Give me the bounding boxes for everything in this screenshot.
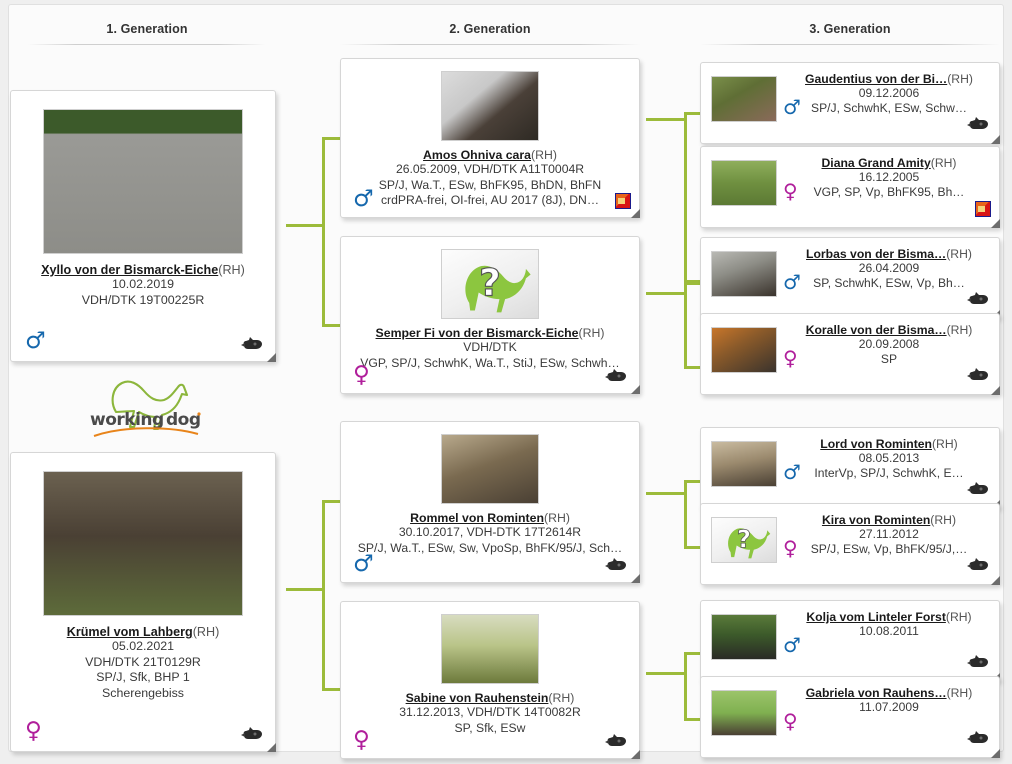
pedigree-page: 1. Generation 2. Generation 3. Generatio…: [0, 0, 1012, 764]
gender-icon-female: ♀: [783, 348, 798, 368]
dog-name-suffix: (RH): [932, 437, 958, 451]
card-corner-marker: [991, 749, 1000, 758]
pedigree-card-gen3[interactable]: Gabriela von Rauhens…(RH) 11.07.2009 ♀: [700, 676, 1000, 758]
dog-name: Xyllo von der Bismarck-Eiche(RH): [11, 263, 275, 277]
pedigree-document-icon[interactable]: [615, 193, 631, 209]
dog-meta-line: VDH/DTK: [347, 340, 633, 356]
dog-name: Lorbas von der Bisma…(RH): [785, 247, 993, 261]
dog-name: Sabine von Rauhenstein(RH): [341, 691, 639, 705]
generation-header-3: 3. Generation: [700, 22, 1000, 45]
dog-name-link[interactable]: Semper Fi von der Bismarck-Eiche: [376, 326, 579, 340]
connector-line: [286, 224, 324, 227]
dog-meta-line: VDH/DTK 21T0129R: [11, 655, 275, 671]
dog-name: Diana Grand Amity(RH): [785, 156, 993, 170]
dog-meta-line: 10.08.2011: [785, 624, 993, 639]
dog-name-link[interactable]: Rommel von Rominten: [410, 511, 544, 525]
gender-icon-female: ♀: [783, 538, 798, 558]
gender-icon-male: ♂: [25, 330, 46, 353]
dog-head-icon: [967, 730, 989, 745]
gender-icon-female: ♀: [25, 720, 42, 743]
gender-icon-male: ♂: [353, 553, 374, 576]
connector-line: [322, 500, 342, 503]
dog-name-link[interactable]: Lorbas von der Bisma…: [806, 247, 946, 261]
dog-name: Gabriela von Rauhens…(RH): [785, 686, 993, 700]
generation-header-1-rule: [28, 44, 266, 45]
connector-line: [684, 480, 687, 548]
dog-meta: 30.10.2017, VDH-DTK 17T2614RSP/J, Wa.T.,…: [341, 525, 639, 556]
dog-photo[interactable]: [711, 251, 777, 297]
dog-head-icon: [605, 368, 627, 383]
dog-name: Koralle von der Bisma…(RH): [785, 323, 993, 337]
dog-name: Krümel vom Lahberg(RH): [11, 625, 275, 639]
dog-photo[interactable]: [711, 614, 777, 660]
gender-icon-female: ♀: [353, 729, 370, 752]
card-corner-marker: [991, 135, 1000, 144]
pedigree-card-gen2[interactable]: Sabine von Rauhenstein(RH) 31.12.2013, V…: [340, 601, 640, 759]
connector-line: [684, 112, 687, 282]
dog-name-suffix: (RH): [947, 72, 973, 86]
dog-info: Lord von Rominten(RH) 08.05.2013InterVp,…: [785, 437, 993, 481]
dog-meta: 16.12.2005VGP, SP, Vp, BhFK95, Bh…: [785, 170, 993, 200]
dog-meta-line: VGP, SP, Vp, BhFK95, Bh…: [785, 185, 993, 200]
dog-head-icon: [967, 654, 989, 669]
dog-name: Kolja vom Linteler Forst(RH): [785, 610, 993, 624]
dog-name-link[interactable]: Krümel vom Lahberg: [67, 625, 193, 639]
pedigree-card-gen3[interactable]: Koralle von der Bisma…(RH) 20.09.2008SP …: [700, 313, 1000, 395]
gender-icon-male: ♂: [783, 635, 801, 655]
card-corner-marker: [991, 576, 1000, 585]
pedigree-card-gen1[interactable]: Xyllo von der Bismarck-Eiche(RH) 10.02.2…: [10, 90, 276, 362]
card-corner-marker: [631, 574, 640, 583]
dog-meta-line: 31.12.2013, VDH/DTK 14T0082R: [347, 705, 633, 721]
dog-name-link[interactable]: Lord von Rominten: [820, 437, 932, 451]
dog-photo[interactable]: [711, 690, 777, 736]
dog-photo[interactable]: [43, 109, 243, 254]
dog-meta-line: 26.04.2009: [785, 261, 993, 276]
dog-name-link[interactable]: Gabriela von Rauhens…: [806, 686, 947, 700]
dog-name-link[interactable]: Koralle von der Bisma…: [806, 323, 947, 337]
card-corner-marker: [991, 219, 1000, 228]
svg-text:working: working: [90, 410, 164, 430]
connector-line: [684, 282, 687, 368]
dog-head-icon: [967, 557, 989, 572]
dog-name-link[interactable]: Amos Ohniva cara: [423, 148, 531, 162]
dog-info: Kolja vom Linteler Forst(RH) 10.08.2011: [785, 610, 993, 639]
dog-meta: VDH/DTKVGP, SP/J, SchwhK, Wa.T., StiJ, E…: [341, 340, 639, 371]
connector-line: [646, 492, 686, 495]
dog-name-suffix: (RH): [218, 263, 245, 277]
dog-photo[interactable]: [711, 441, 777, 487]
dog-name-link[interactable]: Sabine von Rauhenstein: [406, 691, 549, 705]
dog-head-icon: [241, 726, 263, 741]
dog-name-suffix: (RH): [947, 323, 973, 337]
connector-line: [322, 137, 325, 327]
pedigree-card-gen3[interactable]: Lord von Rominten(RH) 08.05.2013InterVp,…: [700, 427, 1000, 509]
dog-meta-line: 16.12.2005: [785, 170, 993, 185]
dog-info: Lorbas von der Bisma…(RH) 26.04.2009SP, …: [785, 247, 993, 291]
connector-line: [646, 672, 686, 675]
connector-line: [322, 688, 342, 691]
dog-name-link[interactable]: Xyllo von der Bismarck-Eiche: [41, 263, 218, 277]
dog-photo[interactable]: [441, 434, 539, 504]
gender-icon-female: ♀: [783, 711, 798, 731]
dog-head-icon: [605, 733, 627, 748]
pedigree-card-gen3[interactable]: ? Kira von Rominten(RH) 27.11.2012SP/J, …: [700, 503, 1000, 585]
dog-meta: 05.02.2021VDH/DTK 21T0129RSP/J, Sfk, BHP…: [11, 639, 275, 701]
dog-name: Gaudentius von der Bi…(RH): [785, 72, 993, 86]
connector-line: [646, 118, 686, 121]
dog-meta-line: SP, SchwhK, ESw, Vp, Bh…: [785, 276, 993, 291]
dog-meta-line: VDH/DTK 19T00225R: [11, 293, 275, 309]
dog-meta: 20.09.2008SP: [785, 337, 993, 367]
dog-meta-line: 05.02.2021: [11, 639, 275, 655]
dog-meta-line: SP/J, Wa.T., ESw, BhFK95, BhDN, BhFN: [347, 178, 633, 194]
card-corner-marker: [631, 385, 640, 394]
dog-meta: 26.05.2009, VDH/DTK A11T0004RSP/J, Wa.T.…: [341, 162, 639, 209]
dog-meta-line: 10.02.2019: [11, 277, 275, 293]
dog-head-icon: [967, 367, 989, 382]
dog-meta-line: SP: [785, 352, 993, 367]
card-corner-marker: [267, 353, 276, 362]
connector-line: [322, 324, 342, 327]
dog-name-link[interactable]: Gaudentius von der Bi…: [805, 72, 947, 86]
dog-name-suffix: (RH): [531, 148, 557, 162]
dog-meta-line: VGP, SP/J, SchwhK, Wa.T., StiJ, ESw, Sch…: [347, 356, 633, 372]
connector-line: [684, 652, 687, 720]
generation-header-3-rule: [700, 44, 1000, 45]
dog-photo[interactable]: [711, 327, 777, 373]
generation-header-1: 1. Generation: [28, 22, 266, 45]
dog-photo[interactable]: [711, 160, 777, 206]
dog-head-icon: [241, 336, 263, 351]
dog-meta: 11.07.2009: [785, 700, 993, 715]
gender-icon-male: ♂: [783, 97, 801, 117]
dog-meta: 08.05.2013InterVp, SP/J, SchwhK, E…: [785, 451, 993, 481]
dog-meta-line: SP/J, ESw, Vp, BhFK/95/J,…: [785, 542, 993, 557]
pedigree-card-gen2[interactable]: Rommel von Rominten(RH) 30.10.2017, VDH-…: [340, 421, 640, 583]
unknown-dog-placeholder-icon[interactable]: ?: [711, 517, 777, 563]
gender-icon-female: ♀: [783, 181, 798, 201]
dog-meta-line: SP/J, SchwhK, ESw, Schw…: [785, 101, 993, 116]
dog-name-link[interactable]: Kira von Rominten: [822, 513, 930, 527]
pedigree-card-gen3[interactable]: Lorbas von der Bisma…(RH) 26.04.2009SP, …: [700, 237, 1000, 319]
dog-name-suffix: (RH): [930, 513, 956, 527]
dog-meta-line: 09.12.2006: [785, 86, 993, 101]
dog-head-icon: [967, 116, 989, 131]
card-corner-marker: [267, 743, 276, 752]
dog-meta-line: 27.11.2012: [785, 527, 993, 542]
dog-name-link[interactable]: Diana Grand Amity: [822, 156, 931, 170]
dog-head-icon: [605, 557, 627, 572]
unknown-dog-placeholder-icon[interactable]: ?: [441, 249, 539, 319]
dog-name-suffix: (RH): [931, 156, 957, 170]
card-corner-marker: [631, 750, 640, 759]
dog-name: Amos Ohniva cara(RH): [341, 148, 639, 162]
dog-meta-line: Scherengebiss: [11, 686, 275, 702]
dog-head-icon: [967, 291, 989, 306]
dog-meta: 31.12.2013, VDH/DTK 14T0082RSP, Sfk, ESw: [341, 705, 639, 736]
svg-text:?: ?: [479, 260, 501, 304]
generation-header-2-label: 2. Generation: [340, 22, 640, 36]
gender-icon-female: ♀: [353, 364, 370, 387]
dog-meta: 26.04.2009SP, SchwhK, ESw, Vp, Bh…: [785, 261, 993, 291]
pedigree-document-icon[interactable]: [975, 201, 991, 217]
dog-meta-line: 20.09.2008: [785, 337, 993, 352]
svg-text:dog: dog: [166, 410, 201, 430]
card-corner-marker: [631, 209, 640, 218]
pedigree-card-gen3[interactable]: Diana Grand Amity(RH) 16.12.2005VGP, SP,…: [700, 146, 1000, 228]
dog-photo[interactable]: [43, 471, 243, 616]
dog-name-link[interactable]: Kolja vom Linteler Forst: [806, 610, 946, 624]
dog-info: Koralle von der Bisma…(RH) 20.09.2008SP: [785, 323, 993, 367]
dog-info: Kira von Rominten(RH) 27.11.2012SP/J, ES…: [785, 513, 993, 557]
dog-meta-line: InterVp, SP/J, SchwhK, E…: [785, 466, 993, 481]
dog-name-suffix: (RH): [193, 625, 220, 639]
dog-name-suffix: (RH): [946, 247, 972, 261]
connector-line: [286, 588, 324, 591]
pedigree-card-gen3[interactable]: Kolja vom Linteler Forst(RH) 10.08.2011 …: [700, 600, 1000, 682]
generation-header-2-rule: [340, 44, 640, 45]
dog-name-suffix: (RH): [947, 686, 973, 700]
connector-line: [322, 137, 342, 140]
dog-name: Lord von Rominten(RH): [785, 437, 993, 451]
dog-name-suffix: (RH): [579, 326, 605, 340]
dog-name-suffix: (RH): [946, 610, 972, 624]
dog-meta-line: SP/J, Sfk, BHP 1: [11, 670, 275, 686]
dog-meta-line: crdPRA-frei, OI-frei, AU 2017 (8J), DN…: [347, 193, 633, 209]
dog-name-suffix: (RH): [544, 511, 570, 525]
svg-text:?: ?: [737, 524, 751, 553]
dog-meta-line: SP/J, Wa.T., ESw, Sw, VpoSp, BhFK/95/J, …: [347, 541, 633, 557]
dog-meta: 10.08.2011: [785, 624, 993, 639]
dog-name: Semper Fi von der Bismarck-Eiche(RH): [341, 326, 639, 340]
gender-icon-male: ♂: [783, 462, 801, 482]
dog-meta-line: 08.05.2013: [785, 451, 993, 466]
connector-line: [322, 500, 325, 690]
gender-icon-male: ♂: [783, 272, 801, 292]
dog-head-icon: [967, 481, 989, 496]
working-dog-logo: working dog: [86, 372, 204, 438]
card-corner-marker: [991, 386, 1000, 395]
dog-meta-line: 11.07.2009: [785, 700, 993, 715]
connector-line: [646, 292, 686, 295]
dog-name: Rommel von Rominten(RH): [341, 511, 639, 525]
pedigree-card-gen2[interactable]: Amos Ohniva cara(RH) 26.05.2009, VDH/DTK…: [340, 58, 640, 218]
dog-meta: 10.02.2019VDH/DTK 19T00225R: [11, 277, 275, 308]
dog-meta-line: 30.10.2017, VDH-DTK 17T2614R: [347, 525, 633, 541]
dog-name: Kira von Rominten(RH): [785, 513, 993, 527]
dog-photo[interactable]: [711, 76, 777, 122]
gender-icon-male: ♂: [353, 188, 374, 211]
dog-photo[interactable]: [441, 614, 539, 684]
dog-info: Gabriela von Rauhens…(RH) 11.07.2009: [785, 686, 993, 715]
dog-info: Diana Grand Amity(RH) 16.12.2005VGP, SP,…: [785, 156, 993, 200]
pedigree-card-gen1[interactable]: Krümel vom Lahberg(RH) 05.02.2021VDH/DTK…: [10, 452, 276, 752]
generation-header-2: 2. Generation: [340, 22, 640, 45]
dog-name-suffix: (RH): [548, 691, 574, 705]
pedigree-card-gen3[interactable]: Gaudentius von der Bi…(RH) 09.12.2006SP/…: [700, 62, 1000, 144]
dog-photo[interactable]: [441, 71, 539, 141]
generation-header-1-label: 1. Generation: [28, 22, 266, 36]
pedigree-card-gen2[interactable]: ? Semper Fi von der Bismarck-Eiche(RH) V…: [340, 236, 640, 394]
dog-meta: 27.11.2012SP/J, ESw, Vp, BhFK/95/J,…: [785, 527, 993, 557]
dog-info: Gaudentius von der Bi…(RH) 09.12.2006SP/…: [785, 72, 993, 116]
dog-meta: 09.12.2006SP/J, SchwhK, ESw, Schw…: [785, 86, 993, 116]
dog-meta-line: 26.05.2009, VDH/DTK A11T0004R: [347, 162, 633, 178]
generation-header-3-label: 3. Generation: [700, 22, 1000, 36]
dog-meta-line: SP, Sfk, ESw: [347, 721, 633, 737]
